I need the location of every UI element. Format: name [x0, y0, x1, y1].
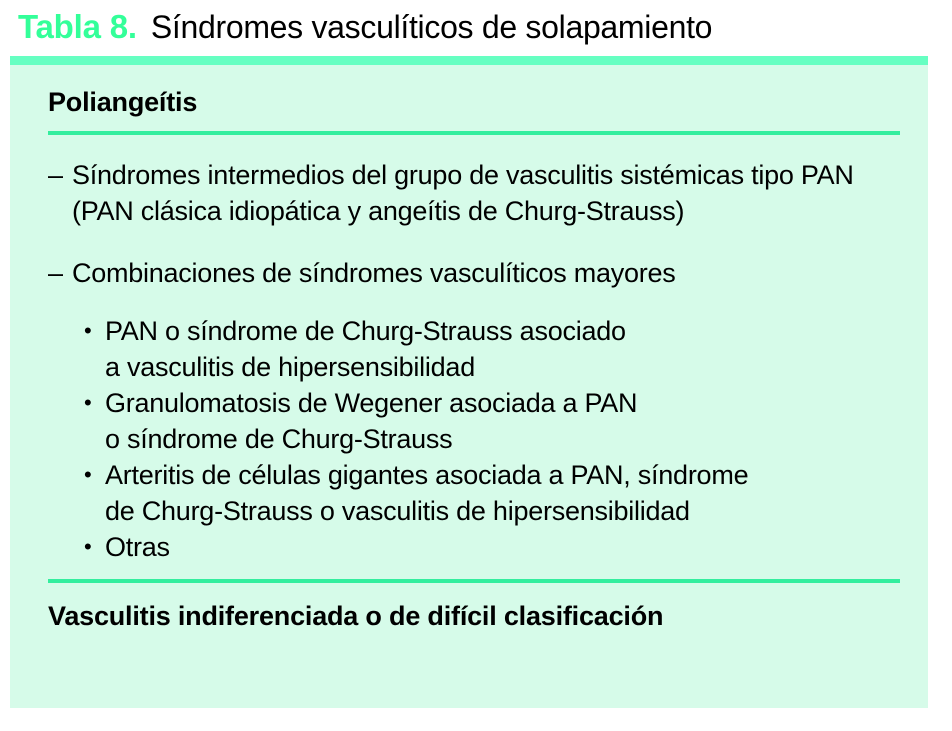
- bullet-marker-icon: •: [84, 313, 105, 349]
- list-item-text: PAN o síndrome de Churg-Strauss asociado…: [105, 313, 900, 385]
- table-number-label: Tabla 8.: [18, 8, 137, 46]
- dash-item-list: – Síndromes intermedios del grupo de vas…: [48, 157, 900, 291]
- bullet-marker-icon: •: [84, 529, 105, 565]
- list-item: – Síndromes intermedios del grupo de vas…: [48, 157, 900, 229]
- text-line: PAN o síndrome de Churg-Strauss asociado: [105, 313, 900, 349]
- table-body-panel: Poliangeítis – Síndromes intermedios del…: [10, 65, 928, 708]
- dash-marker-icon: –: [48, 157, 72, 193]
- text-line: de Churg-Strauss o vasculitis de hiperse…: [105, 493, 900, 529]
- divider-above-footer: [48, 579, 900, 583]
- text-line: Otras: [105, 529, 900, 565]
- text-line: Combinaciones de síndromes vasculíticos …: [72, 258, 676, 288]
- table-title: Síndromes vasculíticos de solapamiento: [151, 9, 712, 46]
- text-line: o síndrome de Churg-Strauss: [105, 421, 900, 457]
- text-line: Síndromes intermedios del grupo de vascu…: [72, 160, 613, 190]
- list-item: – Combinaciones de síndromes vasculítico…: [48, 255, 900, 291]
- table-figure: Tabla 8. Síndromes vasculíticos de solap…: [0, 0, 952, 731]
- text-line: de Churg-Strauss): [468, 196, 684, 226]
- top-accent-rule: [10, 56, 928, 65]
- bullet-marker-icon: •: [84, 457, 105, 493]
- list-item: • Otras: [84, 529, 900, 565]
- footer-heading-vasculitis-indiferenciada: Vasculitis indiferenciada o de difícil c…: [48, 599, 900, 633]
- list-item-text: Otras: [105, 529, 900, 565]
- list-item: • PAN o síndrome de Churg-Strauss asocia…: [84, 313, 900, 385]
- text-line: Arteritis de células gigantes asociada a…: [105, 457, 900, 493]
- text-line: Granulomatosis de Wegener asociada a PAN: [105, 385, 900, 421]
- section-heading-poliangeitis: Poliangeítis: [48, 85, 900, 119]
- list-item-text: Granulomatosis de Wegener asociada a PAN…: [105, 385, 900, 457]
- text-line: a vasculitis de hipersensibilidad: [105, 349, 900, 385]
- bullet-marker-icon: •: [84, 385, 105, 421]
- bullet-item-list: • PAN o síndrome de Churg-Strauss asocia…: [48, 313, 900, 565]
- table-content: Poliangeítis – Síndromes intermedios del…: [48, 85, 900, 633]
- list-item: • Arteritis de células gigantes asociada…: [84, 457, 900, 529]
- dash-marker-icon: –: [48, 255, 72, 291]
- table-caption: Tabla 8. Síndromes vasculíticos de solap…: [18, 8, 934, 52]
- list-item-text: Arteritis de células gigantes asociada a…: [105, 457, 900, 529]
- list-item-text: Síndromes intermedios del grupo de vascu…: [72, 157, 900, 229]
- list-item-text: Combinaciones de síndromes vasculíticos …: [72, 255, 900, 291]
- list-item: • Granulomatosis de Wegener asociada a P…: [84, 385, 900, 457]
- divider-under-heading: [48, 131, 900, 135]
